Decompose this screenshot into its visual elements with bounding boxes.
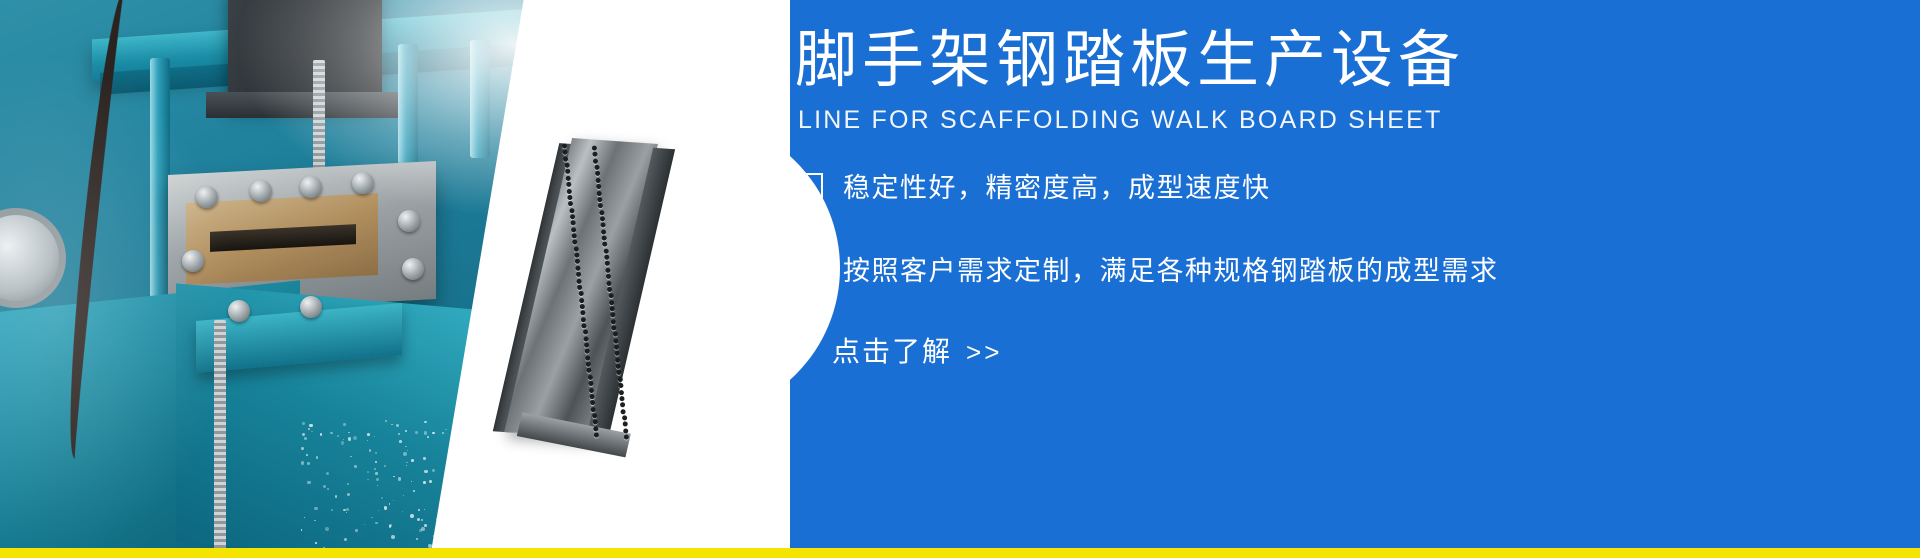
plank-hole: [586, 362, 591, 367]
plank-hole: [599, 210, 604, 215]
metal-chip: [316, 456, 319, 459]
bottom-accent-strip: [0, 548, 1920, 558]
metal-chip: [413, 490, 415, 492]
metal-chip: [374, 436, 375, 437]
metal-chip: [354, 465, 358, 469]
plank-hole: [607, 287, 612, 292]
feature-list: 稳定性好，精密度高，成型速度快 按照客户需求定制，满足各种规格钢踏板的成型需求: [798, 166, 1878, 332]
plank-hole: [594, 165, 599, 170]
metal-chip: [337, 435, 339, 437]
machine-bolt: [228, 300, 250, 322]
metal-chip: [424, 470, 428, 474]
metal-chip: [302, 433, 306, 437]
metal-chip: [304, 517, 305, 518]
plank-hole: [565, 175, 570, 180]
plank-hole: [594, 432, 599, 437]
metal-chip: [384, 465, 387, 468]
metal-chip: [445, 429, 447, 431]
plank-hole: [574, 252, 579, 257]
plank-hole: [609, 300, 614, 305]
metal-chip: [378, 510, 379, 511]
plank-hole: [600, 216, 605, 221]
plank-hole: [615, 357, 620, 362]
metal-chip: [325, 527, 329, 531]
plank-hole: [618, 383, 623, 388]
plank-hole: [595, 171, 600, 176]
metal-chip: [301, 447, 304, 450]
metal-chip: [301, 461, 305, 465]
plank-hole: [607, 280, 612, 285]
metal-chip: [348, 432, 349, 433]
metal-chip: [314, 520, 316, 522]
plank-hole: [593, 426, 598, 431]
plank-hole: [588, 381, 593, 386]
machine-bolt: [182, 250, 204, 272]
metal-chip: [327, 488, 329, 490]
metal-chip: [335, 495, 337, 497]
plank-hole: [564, 163, 569, 168]
metal-chip: [320, 433, 322, 435]
plank-hole: [577, 278, 582, 283]
plank-hole: [604, 255, 609, 260]
metal-chip: [405, 446, 407, 448]
metal-chip: [405, 430, 407, 432]
plank-hole: [612, 325, 617, 330]
metal-chip: [314, 507, 318, 511]
metal-chip: [375, 522, 377, 524]
plank-hole: [622, 422, 627, 427]
plank-hole: [610, 312, 615, 317]
plank-hole: [562, 143, 567, 148]
plank-hole: [617, 370, 622, 375]
metal-chip: [367, 479, 368, 480]
plank-hole: [602, 235, 607, 240]
feature-item: 按照客户需求定制，满足各种规格钢踏板的成型需求: [798, 249, 1878, 288]
plank-hole: [587, 374, 592, 379]
banner-title: 脚手架钢踏板生产设备: [795, 28, 1465, 93]
metal-chip: [309, 424, 313, 428]
plank-hole: [570, 214, 575, 219]
machine-bolt: [196, 186, 218, 208]
checkbox-icon: [798, 173, 823, 198]
plank-hole: [577, 285, 582, 290]
metal-chip: [424, 509, 425, 510]
plank-hole: [614, 344, 619, 349]
metal-chip: [411, 481, 412, 482]
plank-hole: [597, 197, 602, 202]
metal-chip: [343, 423, 346, 426]
plank-hole: [621, 409, 626, 414]
metal-chip: [403, 495, 404, 496]
metal-chip: [371, 517, 373, 519]
cta-arrows-icon: >>: [966, 337, 1002, 367]
metal-chip: [406, 462, 408, 464]
plank-hole: [582, 330, 587, 335]
metal-chip: [384, 506, 387, 509]
plank-hole: [613, 338, 618, 343]
metal-chip: [424, 524, 427, 527]
metal-chip: [343, 509, 346, 512]
plank-hole: [605, 267, 610, 272]
plank-hole: [604, 261, 609, 266]
metal-chip: [375, 472, 378, 475]
metal-chip: [311, 431, 313, 433]
plank-hole: [575, 259, 580, 264]
plank-hole: [571, 227, 576, 232]
metal-chip: [406, 465, 407, 466]
metal-chip: [424, 421, 426, 423]
metal-chip: [393, 476, 394, 477]
product-photo-plank: [510, 135, 681, 445]
plank-hole: [589, 394, 594, 399]
machine-bolt: [352, 172, 374, 194]
metal-chip: [421, 519, 424, 522]
metal-chip: [424, 431, 427, 434]
plank-hole: [616, 364, 621, 369]
metal-chip: [398, 477, 402, 481]
plank-hole: [620, 402, 625, 407]
plank-hole: [563, 150, 568, 155]
plank-hole: [569, 208, 574, 213]
plank-hole: [583, 336, 588, 341]
metal-chip: [423, 457, 426, 460]
metal-chip: [367, 433, 370, 436]
metal-chip: [374, 468, 376, 470]
metal-chip: [389, 503, 390, 504]
metal-chip: [417, 518, 420, 521]
checkbox-icon: [798, 256, 823, 281]
metal-chip: [375, 452, 377, 454]
cta-label: 点击了解: [832, 336, 952, 367]
plank-hole: [563, 156, 568, 161]
metal-chip: [423, 481, 426, 484]
metal-chip: [399, 440, 402, 443]
plank-hole: [582, 323, 587, 328]
metal-chip: [364, 524, 365, 525]
plank-hole: [585, 355, 590, 360]
plank-hole: [617, 377, 622, 382]
metal-chip: [347, 493, 350, 496]
metal-chip: [304, 437, 307, 440]
plank-hole: [573, 246, 578, 251]
plank-hole: [603, 248, 608, 253]
metal-chip: [355, 529, 358, 532]
machine-bolt: [250, 180, 272, 202]
plank-hole: [580, 310, 585, 315]
machine-bolt: [300, 296, 322, 318]
plank-hole: [584, 342, 589, 347]
metal-chip: [396, 424, 399, 427]
plank-hole: [612, 332, 617, 337]
metal-chip: [331, 509, 333, 511]
plank-hole: [575, 265, 580, 270]
plank-hole: [592, 413, 597, 418]
metal-chip: [398, 433, 399, 434]
plank-hole: [570, 220, 575, 225]
plank-hole: [611, 319, 616, 324]
metal-chip: [307, 462, 310, 465]
metal-chip: [367, 471, 369, 473]
plank-hole: [572, 233, 577, 238]
plank-hole: [602, 242, 607, 247]
promo-banner: 脚手架钢踏板生产设备 LINE FOR SCAFFOLDING WALK BOA…: [0, 0, 1920, 558]
metal-chip: [432, 469, 434, 471]
cta-link[interactable]: 点击了解>>: [832, 330, 1002, 370]
plank-hole: [619, 396, 624, 401]
plank-hole: [578, 291, 583, 296]
plank-hole: [572, 240, 577, 245]
feature-text: 按照客户需求定制，满足各种规格钢踏板的成型需求: [843, 249, 1499, 288]
metal-chip: [348, 437, 351, 440]
metal-chip: [315, 542, 317, 544]
machine-bolt: [398, 210, 420, 232]
metal-chip: [369, 449, 371, 451]
metal-chip: [411, 459, 414, 462]
plank-hole: [566, 182, 571, 187]
metal-chip: [375, 461, 377, 463]
plank-hole: [608, 293, 613, 298]
metal-chip: [346, 508, 349, 511]
plank-hole: [595, 178, 600, 183]
plank-hole: [601, 229, 606, 234]
metal-chip: [353, 436, 357, 440]
feature-text: 稳定性好，精密度高，成型速度快: [843, 166, 1271, 205]
plank-hole: [592, 152, 597, 157]
plank-hole: [592, 419, 597, 424]
metal-chip: [301, 529, 303, 531]
metal-chip: [393, 500, 394, 501]
banner-content: 脚手架钢踏板生产设备 LINE FOR SCAFFOLDING WALK BOA…: [760, 0, 1920, 558]
metal-chip: [389, 525, 392, 528]
plank-hole: [600, 223, 605, 228]
feature-item: 稳定性好，精密度高，成型速度快: [798, 166, 1878, 205]
plank-hole: [567, 188, 572, 193]
plank-hole: [592, 145, 597, 150]
plank-hole: [581, 317, 586, 322]
metal-chip: [403, 452, 407, 456]
metal-chip: [421, 527, 425, 531]
metal-chip: [407, 450, 408, 451]
metal-chip: [302, 422, 305, 425]
plank-hole: [568, 201, 573, 206]
metal-chip: [341, 441, 344, 444]
metal-chip: [442, 432, 444, 434]
metal-chip: [427, 436, 430, 439]
plank-hole: [589, 387, 594, 392]
metal-chip: [377, 485, 378, 486]
plank-hole: [580, 304, 585, 309]
plank-hole: [576, 272, 581, 277]
plank-hole: [623, 428, 628, 433]
metal-chip: [306, 454, 308, 456]
plank-hole: [593, 158, 598, 163]
plank-hole: [597, 190, 602, 195]
metal-chip: [418, 509, 420, 511]
metal-chip: [344, 538, 347, 541]
plank-hole: [590, 400, 595, 405]
metal-chip: [307, 481, 310, 484]
plank-hole: [598, 203, 603, 208]
metal-chip: [381, 497, 383, 499]
machine-bolt: [300, 176, 322, 198]
metal-chip: [416, 538, 418, 540]
metal-chip: [385, 420, 387, 422]
metal-chip: [415, 431, 418, 434]
plank-hole: [619, 389, 624, 394]
metal-chip: [330, 432, 333, 435]
machine-bolt: [402, 258, 424, 280]
metal-chip: [402, 511, 403, 512]
plank-hole: [596, 184, 601, 189]
plank-hole: [621, 415, 626, 420]
plank-hole: [565, 169, 570, 174]
metal-chip: [346, 512, 347, 513]
plank-hole: [591, 407, 596, 412]
metal-chip: [323, 485, 326, 488]
metal-chip: [391, 535, 395, 539]
metal-chip: [308, 428, 310, 430]
metal-chip: [376, 478, 379, 481]
banner-subtitle: LINE FOR SCAFFOLDING WALK BOARD SHEET: [798, 106, 1442, 135]
metal-chip: [343, 439, 344, 440]
metal-chip: [350, 456, 351, 457]
metal-chip: [429, 480, 432, 483]
plank-hole: [585, 349, 590, 354]
plank-hole: [614, 351, 619, 356]
metal-chip: [347, 483, 349, 485]
plank-hole: [609, 306, 614, 311]
metal-chip: [326, 472, 329, 475]
plank-hole: [567, 195, 572, 200]
plank-hole: [606, 274, 611, 279]
plank-hole: [579, 297, 584, 302]
metal-chip: [367, 440, 368, 441]
plank-perforations: [510, 135, 681, 445]
metal-chip: [410, 514, 414, 518]
plank-hole: [624, 434, 629, 439]
metal-chip: [391, 424, 393, 426]
metal-chip: [432, 432, 435, 435]
plank-hole: [587, 368, 592, 373]
